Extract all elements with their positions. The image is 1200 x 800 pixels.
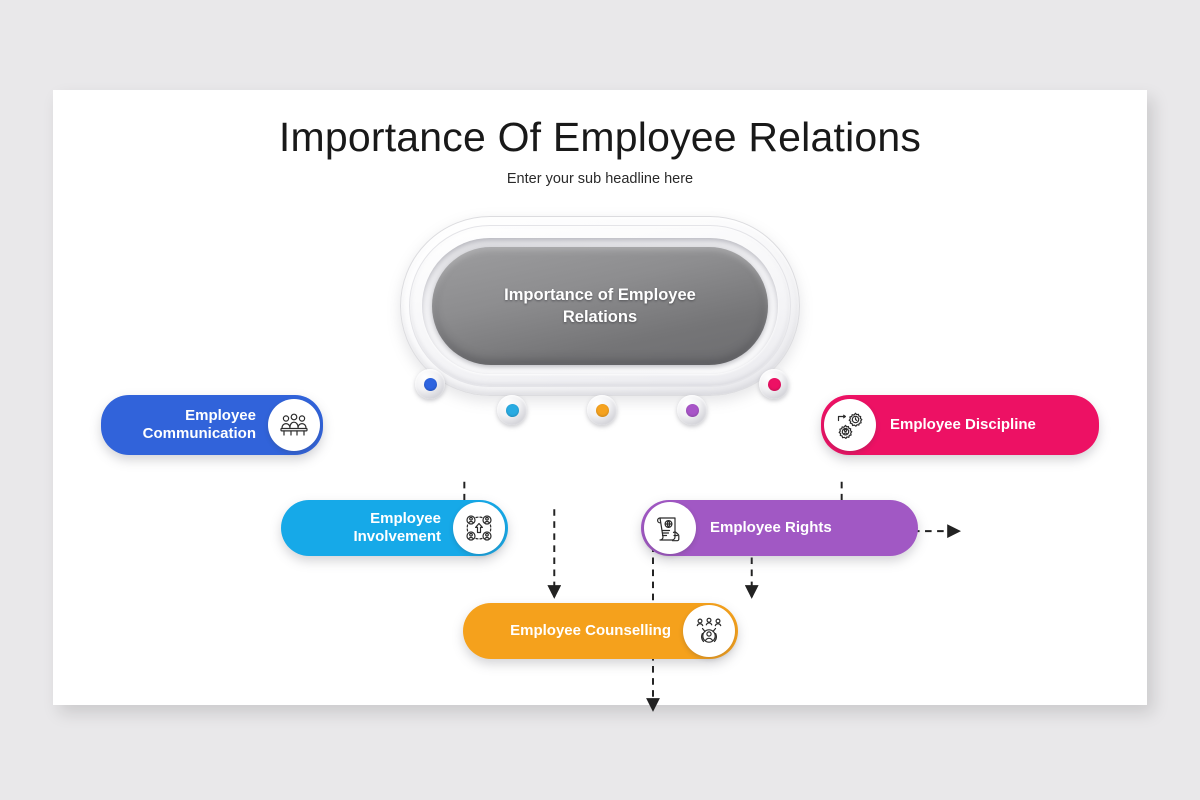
node-employee-communication[interactable]: Employee Communication (101, 395, 323, 455)
gears-clock-icon (824, 399, 876, 451)
node-label-employee-involvement: Employee Involvement (281, 510, 441, 547)
node-label-employee-communication: Employee Communication (143, 407, 256, 444)
connector-dot-discipline[interactable] (759, 369, 789, 399)
hub-label: Importance of Employee Relations (485, 284, 715, 329)
node-employee-rights[interactable]: Employee Rights (641, 500, 918, 556)
node-employee-involvement[interactable]: Employee Involvement (281, 500, 508, 556)
node-label-employee-counselling: Employee Counselling (510, 622, 671, 640)
counselling-group-icon (683, 605, 735, 657)
dot-color-involvement (506, 404, 519, 417)
central-hub[interactable]: Importance of Employee Relations (400, 216, 800, 396)
scroll-fist-icon (644, 502, 696, 554)
node-employee-discipline[interactable]: Employee Discipline (821, 395, 1099, 455)
node-employee-counselling[interactable]: Employee Counselling (463, 603, 738, 659)
hub-inner-panel: Importance of Employee Relations (432, 247, 768, 365)
connector-dot-communication[interactable] (415, 369, 445, 399)
connector-dot-counselling[interactable] (587, 395, 617, 425)
slide-stage: Importance Of Employee Relations Enter y… (0, 0, 1200, 800)
page-title: Importance Of Employee Relations (53, 114, 1147, 161)
meeting-people-icon (268, 399, 320, 451)
dot-color-counselling (596, 404, 609, 417)
page-subtitle: Enter your sub headline here (53, 171, 1147, 187)
slide-card: Importance Of Employee Relations Enter y… (53, 90, 1147, 705)
dot-color-discipline (768, 378, 781, 391)
connector-dot-involvement[interactable] (497, 395, 527, 425)
people-circle-arrow-icon (453, 502, 505, 554)
dot-color-communication (424, 378, 437, 391)
node-label-employee-rights: Employee Rights (710, 519, 832, 537)
node-label-employee-discipline: Employee Discipline (890, 416, 1036, 434)
connector-dot-rights[interactable] (677, 395, 707, 425)
dot-color-rights (686, 404, 699, 417)
